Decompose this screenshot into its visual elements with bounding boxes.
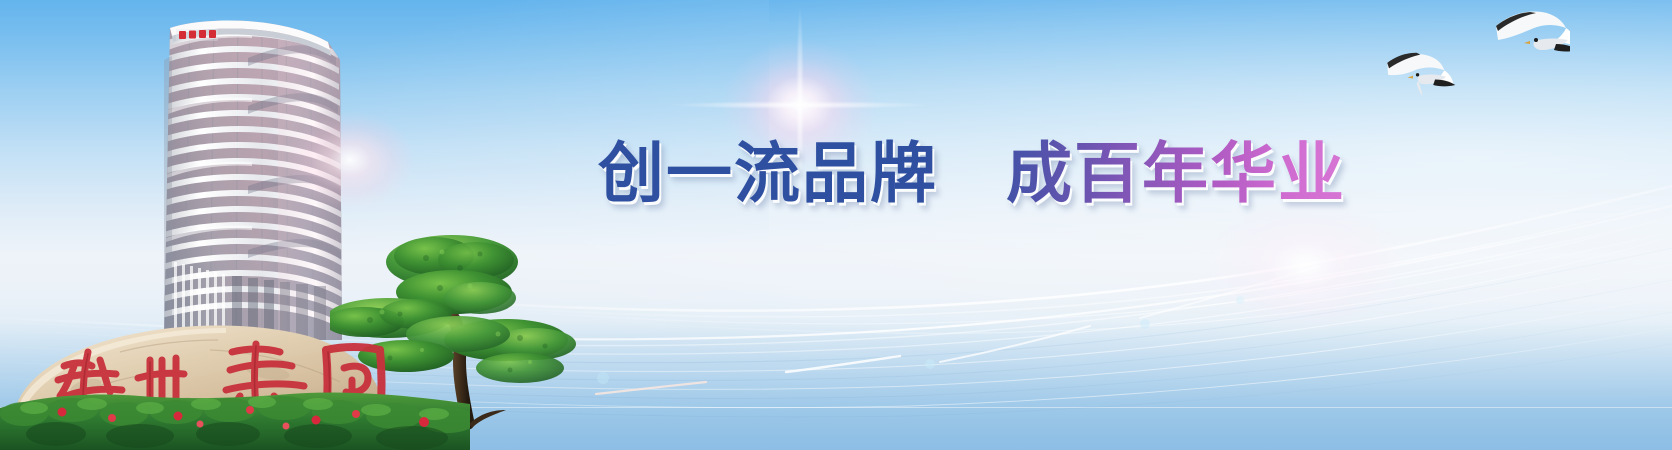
slogan-text: 创一流品牌 成百年华业	[598, 131, 1358, 217]
rooftop-sign	[176, 29, 218, 41]
entrance-monument	[0, 300, 470, 450]
seagull-icon	[1387, 53, 1455, 96]
hero-banner: 创一流品牌 成百年华业	[0, 0, 1672, 450]
flowering-hedge	[0, 392, 470, 450]
seagulls-group	[1370, 8, 1570, 118]
seagull-icon	[1496, 12, 1570, 52]
